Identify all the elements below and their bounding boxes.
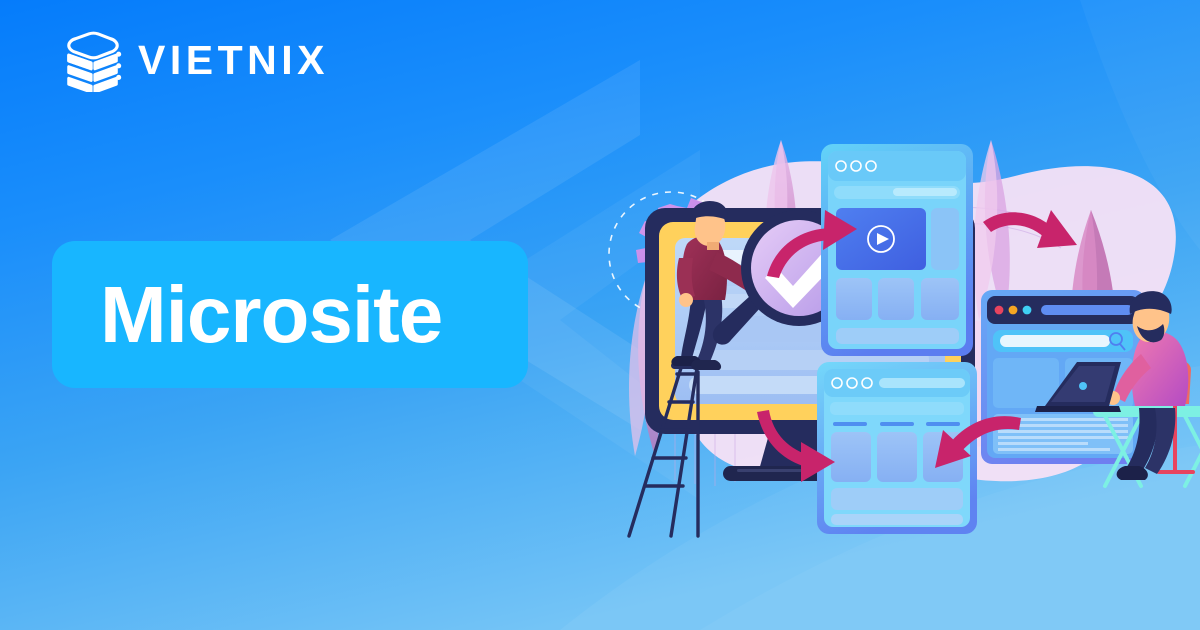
banner-canvas: VIETNIX Microsite	[0, 0, 1200, 630]
window-traffic-lights	[995, 306, 1032, 315]
browser-window-video	[821, 144, 973, 356]
thumbnail-tiles	[836, 278, 959, 320]
stacked-layers-logo-icon	[62, 28, 124, 92]
page-title: Microsite	[100, 275, 442, 355]
illustration-svg	[585, 100, 1200, 540]
brand-wordmark: VIETNIX	[138, 40, 329, 81]
title-badge: Microsite	[52, 241, 528, 388]
card-labels	[833, 422, 960, 426]
browser-window-search	[981, 290, 1145, 464]
microsite-development-illustration	[585, 100, 1200, 540]
brand-logo[interactable]: VIETNIX	[62, 28, 329, 92]
